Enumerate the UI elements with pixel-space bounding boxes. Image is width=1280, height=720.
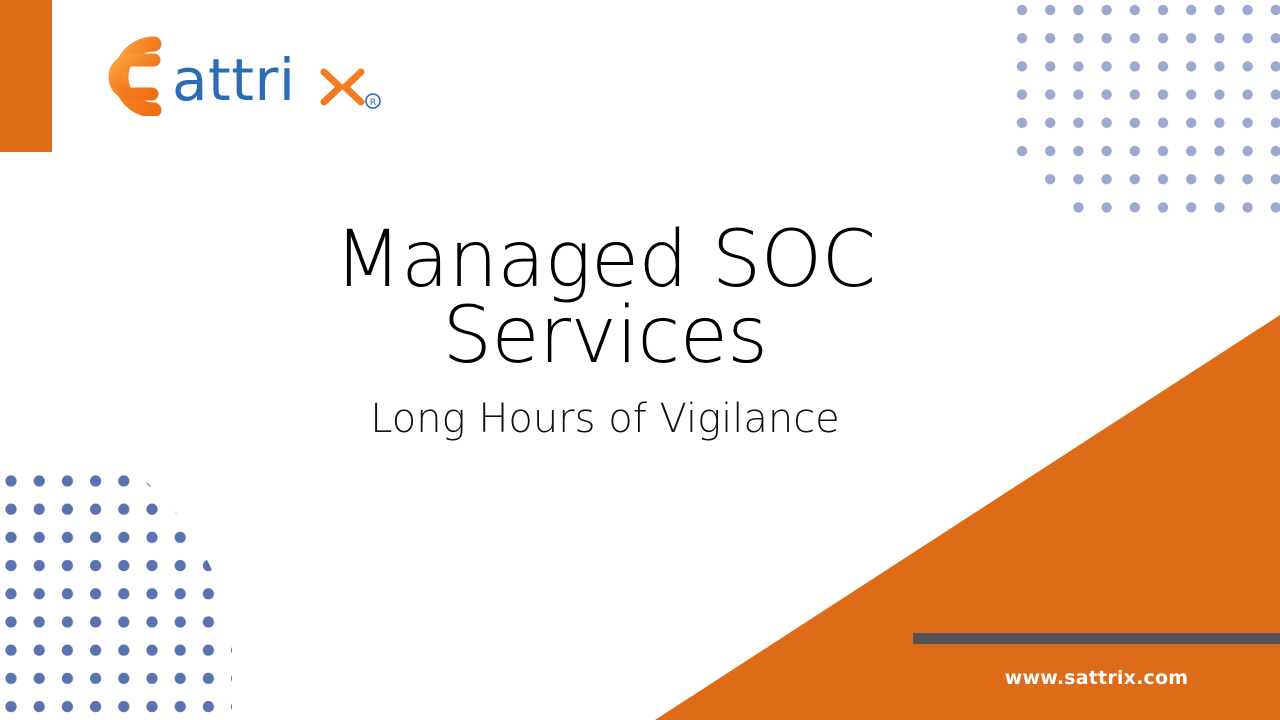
dot-grid-bottom-left: [0, 472, 232, 720]
sattrix-x-icon: [324, 72, 361, 102]
sattrix-s-mark: [110, 43, 154, 111]
page-subtitle: Long Hours of Vigilance: [220, 375, 990, 441]
orange-accent-bar: [0, 0, 52, 152]
sattrix-logo: attri R: [84, 34, 394, 116]
website-url[interactable]: www.sattrix.com: [913, 667, 1280, 689]
svg-text:R: R: [370, 98, 376, 108]
registered-trademark-icon: R: [366, 94, 380, 108]
page-title: Managed SOC Services: [220, 222, 990, 375]
dot-grid-top-right: [1012, 0, 1280, 228]
title-block: Managed SOC Services Long Hours of Vigil…: [220, 222, 990, 441]
sattrix-wordmark: attri: [172, 46, 295, 114]
footer-divider-bar: [913, 633, 1280, 644]
presentation-slide: attri R Managed SOC Services Long Hours …: [0, 0, 1280, 720]
